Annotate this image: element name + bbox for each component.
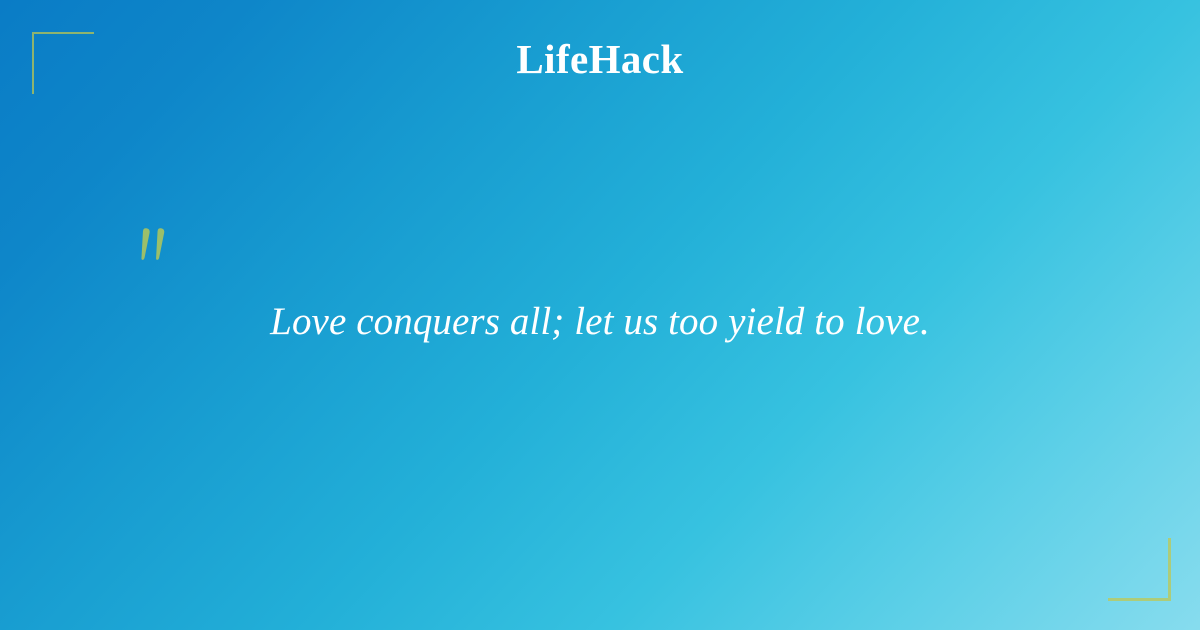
brand-header: LifeHack xyxy=(0,37,1200,81)
quote-text: Love conquers all; let us too yield to l… xyxy=(270,297,930,347)
double-quote-icon xyxy=(133,226,173,270)
brand-logo: LifeHack xyxy=(516,37,683,81)
quote-card: LifeHack Love conquers all; let us too y… xyxy=(0,0,1200,630)
quote-block: Love conquers all; let us too yield to l… xyxy=(0,297,1200,347)
corner-bracket-icon-bottom-right xyxy=(1108,538,1171,601)
